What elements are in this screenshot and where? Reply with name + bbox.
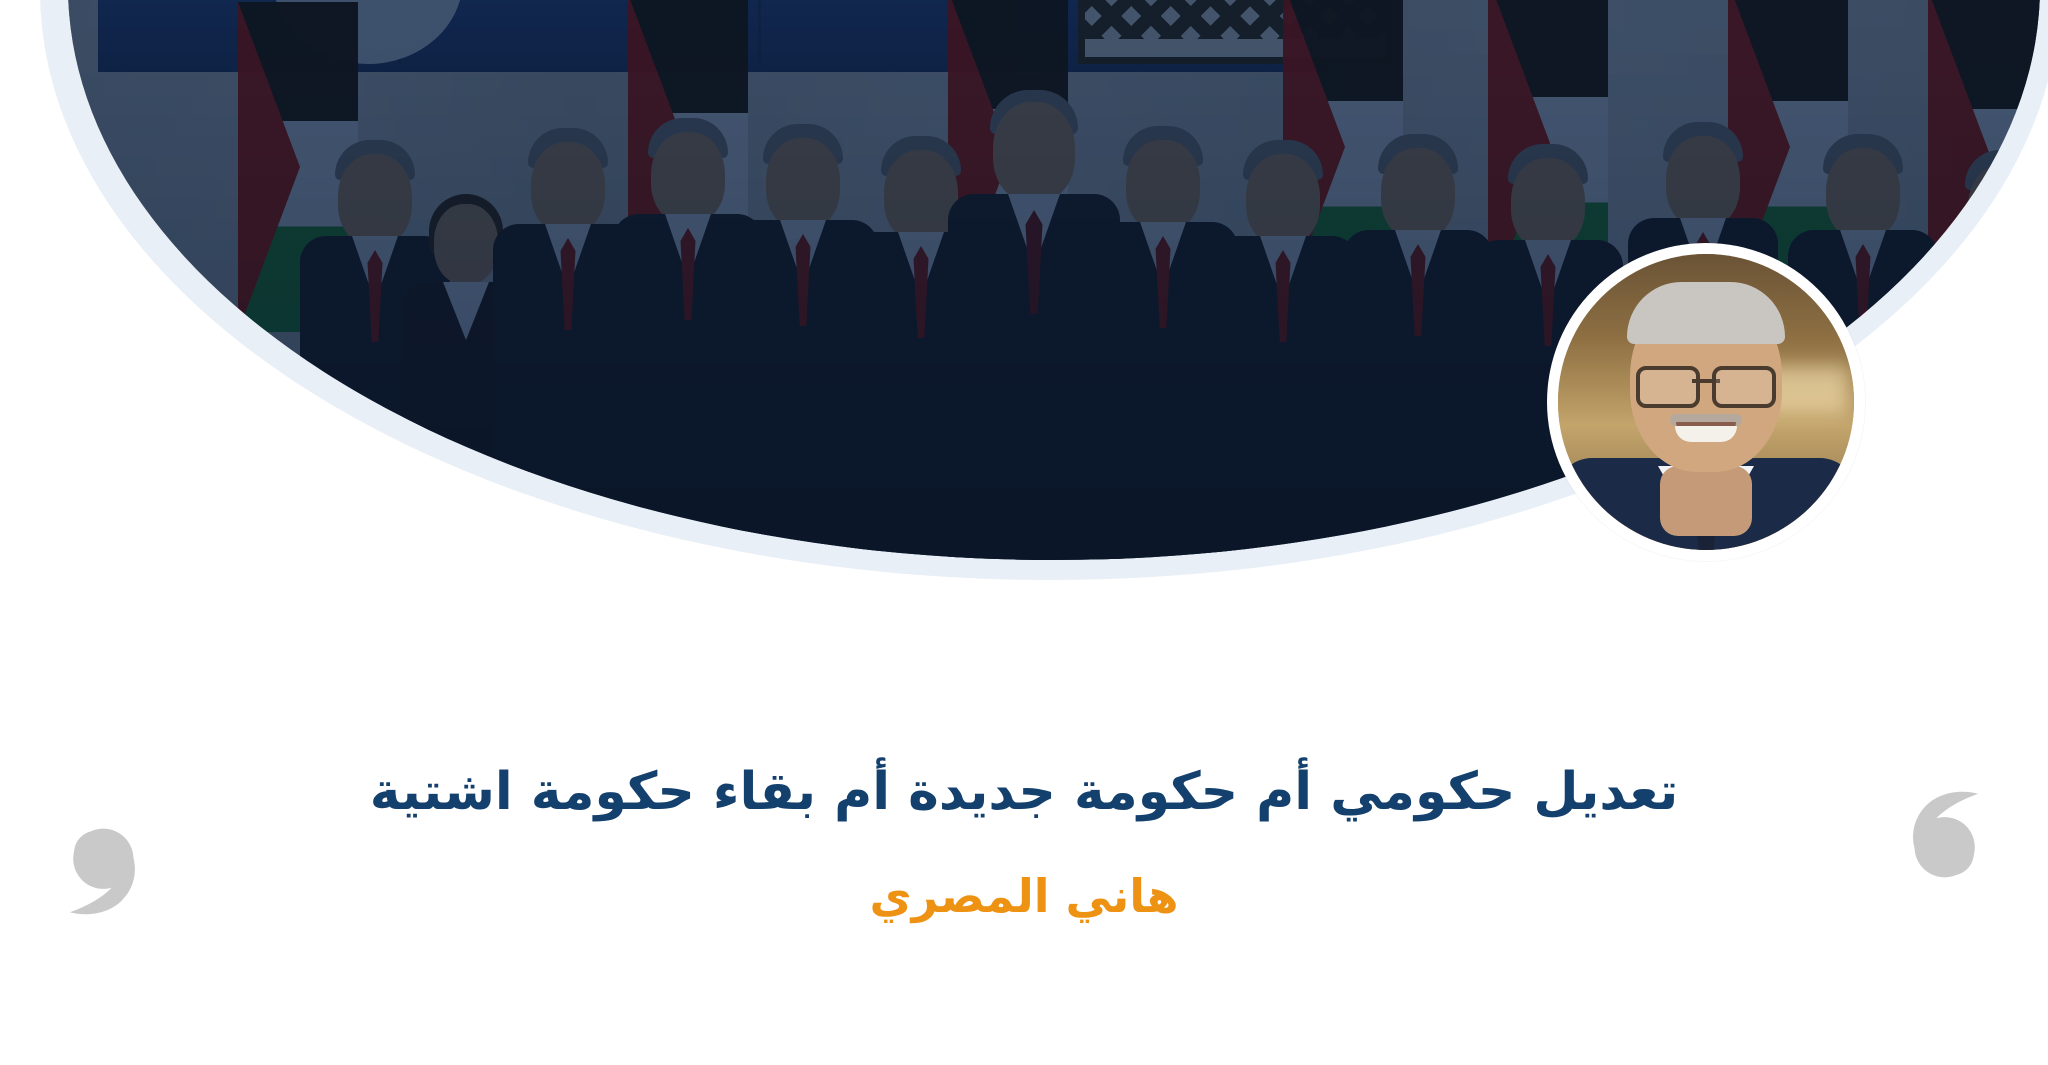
article-headline: تعديل حكومي أم حكومة جديدة أم بقاء حكومة… bbox=[0, 760, 2048, 825]
article-card: تعديل حكومي أم حكومة جديدة أم بقاء حكومة… bbox=[0, 0, 2048, 1065]
avatar-photo bbox=[1558, 254, 1854, 550]
avatar bbox=[1547, 243, 1865, 561]
glasses-icon bbox=[1636, 366, 1776, 400]
article-text-block: تعديل حكومي أم حكومة جديدة أم بقاء حكومة… bbox=[0, 760, 2048, 924]
article-author: هاني المصري bbox=[0, 825, 2048, 924]
